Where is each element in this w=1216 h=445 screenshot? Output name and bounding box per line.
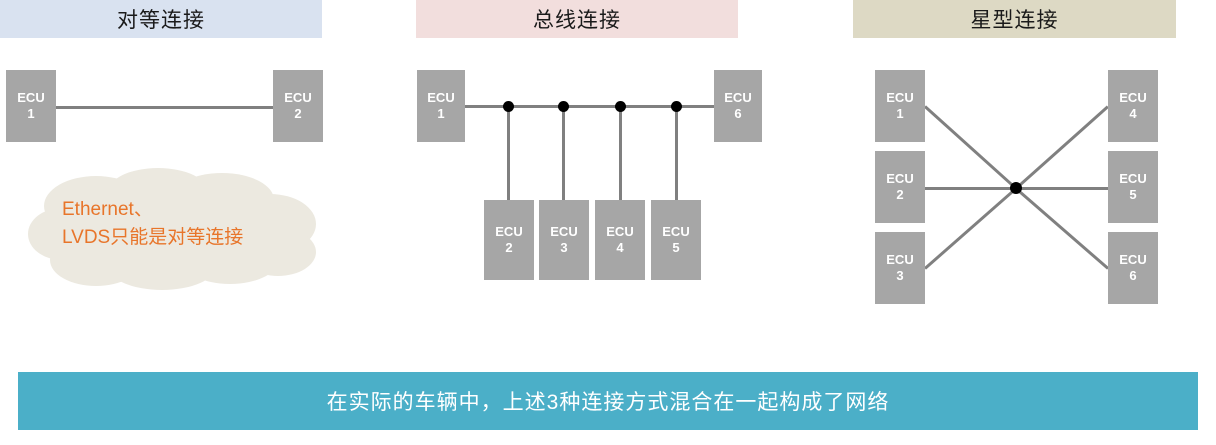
ecu-label: ECU (427, 90, 454, 106)
ecu-box-star-4: ECU 4 (1108, 70, 1158, 142)
ecu-label: ECU (886, 252, 913, 268)
star-hub-dot (1010, 182, 1022, 194)
star-spoke-line-4 (1015, 106, 1109, 190)
ecu-label: ECU (284, 90, 311, 106)
star-spoke-line-5 (1016, 187, 1108, 190)
ecu-number: 2 (505, 240, 512, 256)
summary-banner-text: 在实际的车辆中，上述3种连接方式混合在一起构成了网络 (327, 386, 890, 416)
star-spoke-line-6 (1015, 187, 1109, 269)
ecu-label: ECU (1119, 252, 1146, 268)
bus-drop-line-3 (562, 105, 565, 203)
ecu-box-bus-4: ECU 4 (595, 200, 645, 280)
ecu-number: 3 (896, 268, 903, 284)
ecu-number: 4 (1129, 106, 1136, 122)
ecu-number: 4 (616, 240, 623, 256)
panel-header-bus: 总线连接 (416, 0, 738, 38)
ecu-label: ECU (17, 90, 44, 106)
cloud-callout-text: Ethernet、 LVDS只能是对等连接 (62, 196, 322, 251)
star-spoke-line-1 (924, 105, 1017, 190)
ecu-label: ECU (886, 90, 913, 106)
ecu-label: ECU (886, 171, 913, 187)
panel-title-bus: 总线连接 (533, 4, 621, 34)
ecu-number: 1 (27, 106, 34, 122)
ecu-number: 6 (1129, 268, 1136, 284)
bus-junction-dot-4 (671, 101, 682, 112)
bus-drop-line-2 (507, 105, 510, 203)
peer-link-line (50, 106, 280, 109)
ecu-number: 3 (560, 240, 567, 256)
bus-junction-dot-2 (558, 101, 569, 112)
bus-junction-dot-3 (615, 101, 626, 112)
panel-title-star: 星型连接 (971, 4, 1059, 34)
bus-junction-dot-1 (503, 101, 514, 112)
ecu-box-star-3: ECU 3 (875, 232, 925, 304)
ecu-box-bus-5: ECU 5 (651, 200, 701, 280)
ecu-box-peer-2: ECU 2 (273, 70, 323, 142)
ecu-number: 2 (294, 106, 301, 122)
ecu-label: ECU (724, 90, 751, 106)
panel-header-star: 星型连接 (853, 0, 1176, 38)
ecu-number: 5 (672, 240, 679, 256)
ecu-box-star-2: ECU 2 (875, 151, 925, 223)
ecu-number: 1 (896, 106, 903, 122)
ecu-box-star-6: ECU 6 (1108, 232, 1158, 304)
ecu-box-bus-1: ECU 1 (417, 70, 465, 142)
bus-drop-line-5 (675, 105, 678, 203)
ecu-number: 6 (734, 106, 741, 122)
ecu-box-star-1: ECU 1 (875, 70, 925, 142)
diagram-canvas: 对等连接 ECU 1 ECU 2 Ethernet、 LVDS只能是对等连 (0, 0, 1216, 445)
ecu-label: ECU (495, 224, 522, 240)
ecu-label: ECU (1119, 171, 1146, 187)
ecu-label: ECU (550, 224, 577, 240)
ecu-box-bus-6: ECU 6 (714, 70, 762, 142)
ecu-label: ECU (606, 224, 633, 240)
ecu-box-peer-1: ECU 1 (6, 70, 56, 142)
panel-header-peer: 对等连接 (0, 0, 322, 38)
summary-banner: 在实际的车辆中，上述3种连接方式混合在一起构成了网络 (18, 372, 1198, 430)
ecu-label: ECU (1119, 90, 1146, 106)
ecu-box-star-5: ECU 5 (1108, 151, 1158, 223)
bus-drop-line-4 (619, 105, 622, 203)
ecu-box-bus-2: ECU 2 (484, 200, 534, 280)
star-spoke-line-3 (924, 187, 1018, 270)
ecu-number: 2 (896, 187, 903, 203)
ecu-number: 5 (1129, 187, 1136, 203)
star-spoke-line-2 (925, 187, 1016, 190)
panel-title-peer: 对等连接 (117, 4, 205, 34)
ecu-box-bus-3: ECU 3 (539, 200, 589, 280)
ecu-label: ECU (662, 224, 689, 240)
ecu-number: 1 (437, 106, 444, 122)
